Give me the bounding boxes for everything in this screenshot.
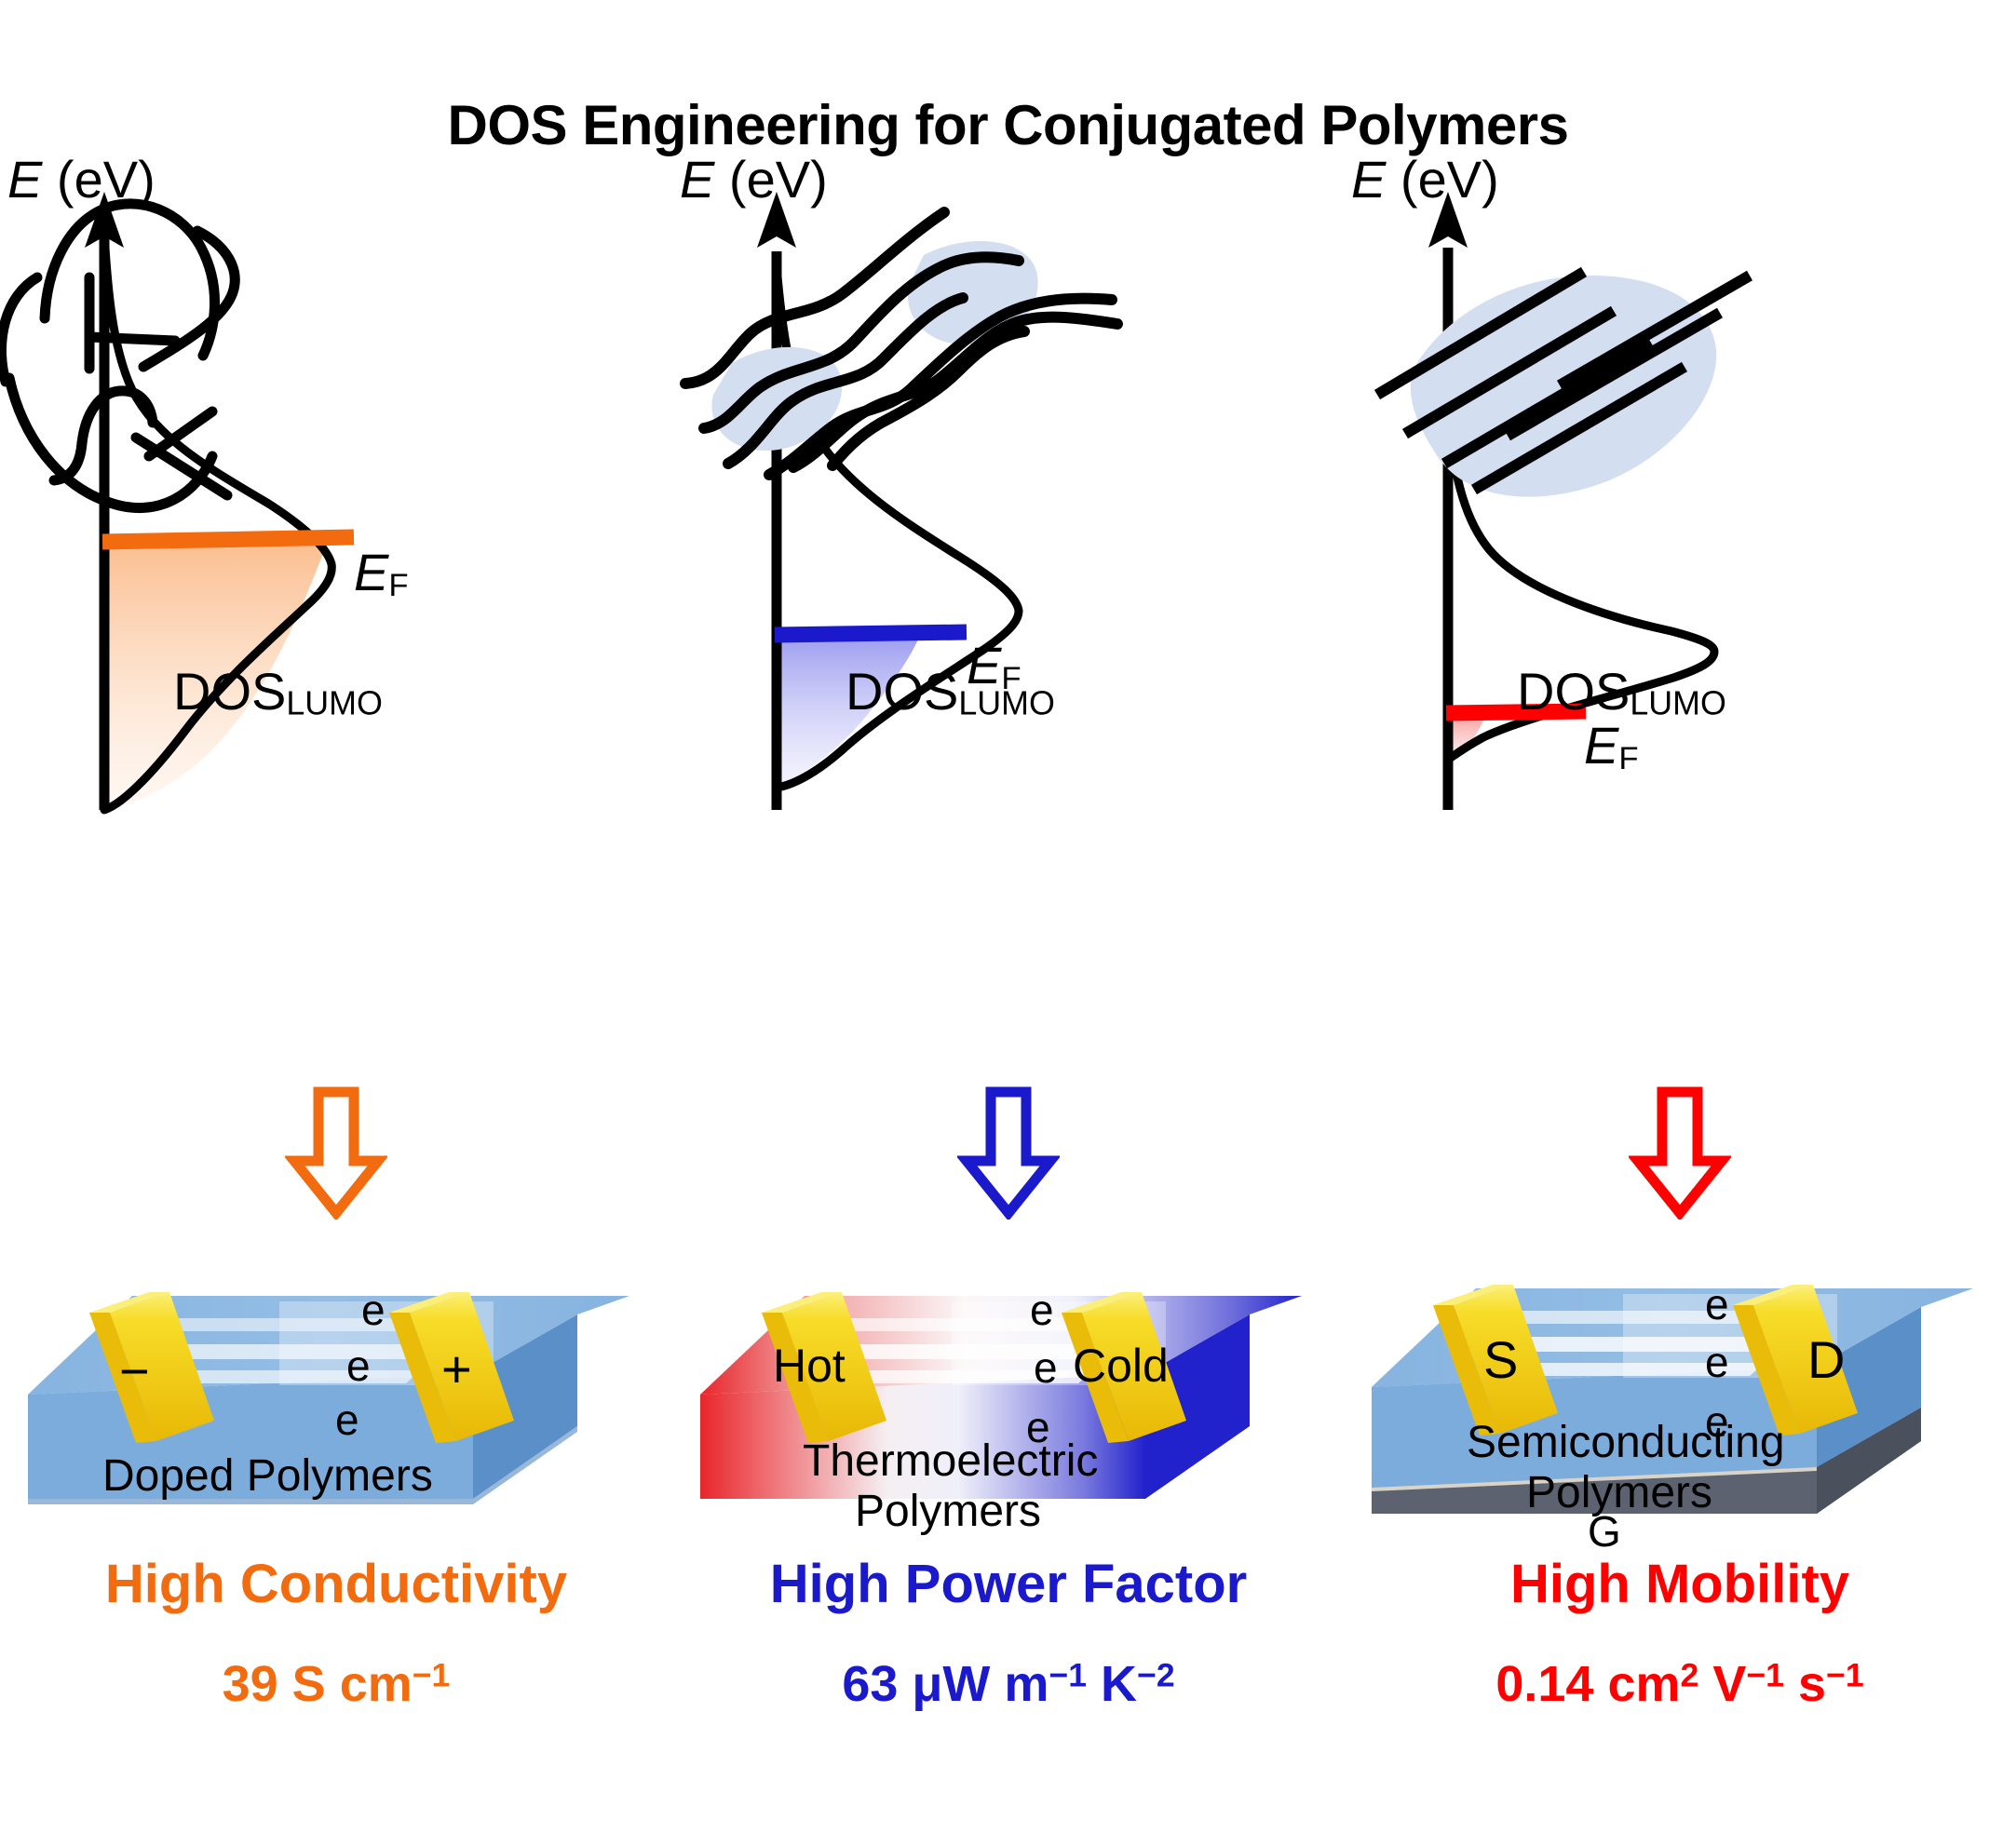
value-conductivity: 39 S cm−1 (0, 1637, 672, 1717)
dos-plot-conductivity: E (eV) EF DOSLUMO (0, 158, 672, 1089)
wavy-aligned-polymer-chains-icon (685, 212, 1117, 475)
headline-conductivity: High Conductivity (0, 1555, 672, 1615)
material-label-line2: Polymers (855, 1486, 1041, 1537)
carrier-e-1: e (1705, 1279, 1729, 1329)
value-power-factor: 63 μW m−1 K−2 (672, 1637, 1345, 1717)
source-electrode-label: S (1483, 1329, 1518, 1390)
panel-conductivity: E (eV) EF DOSLUMO (0, 158, 672, 1833)
energy-axis-label: E (eV) (680, 149, 828, 209)
headline-power-factor: High Power Factor (672, 1555, 1345, 1615)
cold-side-label: Cold (1073, 1339, 1169, 1393)
fermi-level-label: EF (1584, 715, 1639, 777)
panel-power-factor: E (eV) EF DOSLUMO (672, 158, 1345, 1833)
material-label: Doped Polymers (102, 1450, 433, 1502)
carrier-e-2: e (1034, 1342, 1058, 1393)
dos-lumo-label: DOSLUMO (173, 661, 383, 723)
dos-plot-mobility: E (eV) EF DOSLUMO (1344, 158, 2016, 1089)
carrier-e-1: e (1030, 1285, 1054, 1335)
drain-electrode-label: D (1807, 1329, 1845, 1390)
carrier-e-2: e (346, 1341, 371, 1391)
fermi-level-label: EF (354, 542, 409, 604)
dos-plot-power-factor: E (eV) EF DOSLUMO (672, 158, 1345, 1089)
page-title: DOS Engineering for Conjugated Polymers (0, 93, 2016, 157)
fermi-level-line (775, 632, 967, 635)
energy-axis-label: E (eV) (1351, 149, 1499, 209)
energy-axis-label: E (eV) (7, 149, 156, 209)
device-conductivity: − + e e e Doped Polymers (0, 1192, 672, 1564)
hot-side-label: Hot (773, 1339, 846, 1393)
gate-label: G (1588, 1506, 1621, 1557)
value-mobility: 0.14 cm2 V−1 s−1 (1344, 1637, 2016, 1717)
fermi-level-line (102, 537, 354, 542)
crystalline-parallel-chains-icon (1377, 272, 1750, 497)
electrode-right-label: + (441, 1339, 472, 1399)
device-power-factor: Hot Cold e e e Thermoelectric Polymers (672, 1192, 1345, 1564)
material-label-line1: Semiconducting (1467, 1417, 1785, 1468)
carrier-e-3: e (335, 1395, 359, 1445)
carrier-e-1: e (361, 1285, 386, 1335)
headline-mobility: High Mobility (1344, 1555, 2016, 1615)
panel-mobility: E (eV) EF DOSLUMO (1344, 158, 2016, 1833)
material-label-line1: Thermoelectric (803, 1435, 1098, 1487)
dos-lumo-label: DOSLUMO (846, 661, 1055, 723)
dos-lumo-label: DOSLUMO (1517, 661, 1726, 723)
carrier-e-2: e (1705, 1337, 1729, 1387)
device-mobility: S D e e e Semiconducting Polymers G (1344, 1192, 2016, 1564)
electrode-left-label: − (119, 1341, 150, 1401)
